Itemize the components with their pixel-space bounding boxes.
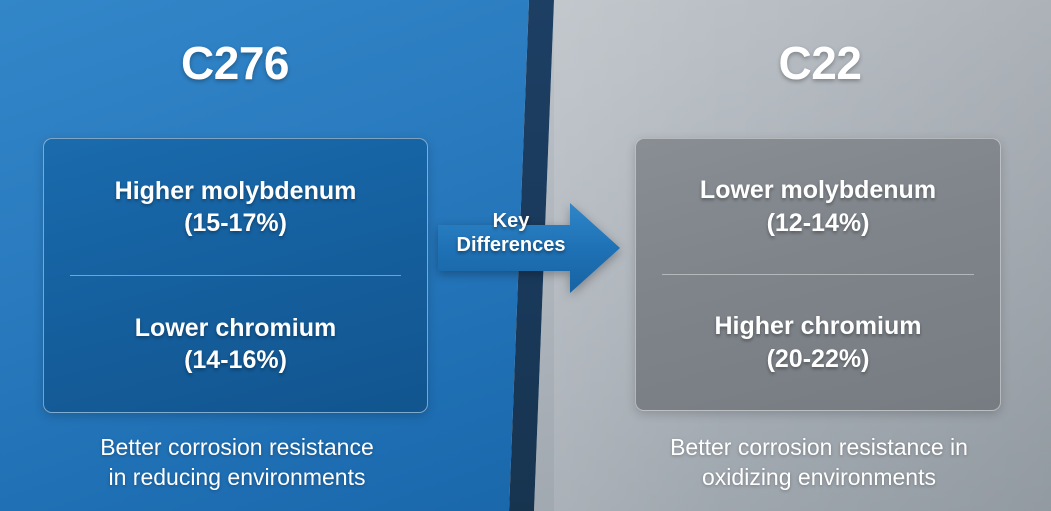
left-caption-line-2: in reducing environments <box>38 462 436 492</box>
left-alloy-title: C276 <box>40 36 430 90</box>
left-properties-card: Higher molybdenum (15-17%) Lower chromiu… <box>43 138 428 413</box>
left-moly-value: (15-17%) <box>184 207 287 240</box>
key-differences-callout: Key Differences <box>438 203 620 293</box>
right-chromium-label: Higher chromium <box>715 310 922 343</box>
right-caption: Better corrosion resistance in oxidizing… <box>628 432 1010 493</box>
left-caption: Better corrosion resistance in reducing … <box>38 432 436 493</box>
left-caption-line-1: Better corrosion resistance <box>38 432 436 462</box>
right-alloy-title: C22 <box>630 36 1010 90</box>
right-card-bottom-property: Higher chromium (20-22%) <box>636 275 1000 410</box>
left-card-bottom-property: Lower chromium (14-16%) <box>44 276 427 412</box>
right-properties-card: Lower molybdenum (12-14%) Higher chromiu… <box>635 138 1001 411</box>
left-chromium-label: Lower chromium <box>135 312 336 345</box>
left-moly-label: Higher molybdenum <box>115 175 357 208</box>
left-chromium-value: (14-16%) <box>184 344 287 377</box>
right-arrow-icon <box>438 203 620 293</box>
left-card-top-property: Higher molybdenum (15-17%) <box>44 139 427 275</box>
right-caption-line-1: Better corrosion resistance in <box>628 432 1010 462</box>
right-chromium-value: (20-22%) <box>767 343 870 376</box>
comparison-infographic: C276 Higher molybdenum (15-17%) Lower ch… <box>0 0 1051 511</box>
right-card-top-property: Lower molybdenum (12-14%) <box>636 139 1000 274</box>
right-moly-label: Lower molybdenum <box>700 174 936 207</box>
right-caption-line-2: oxidizing environments <box>628 462 1010 492</box>
right-moly-value: (12-14%) <box>767 207 870 240</box>
